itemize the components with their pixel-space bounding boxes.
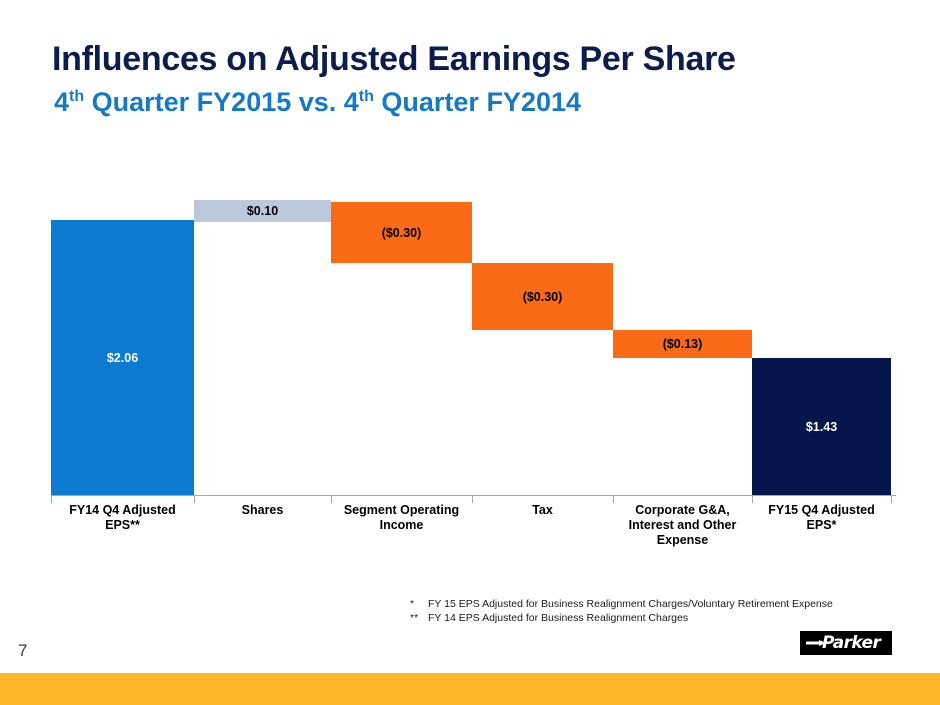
category-label: Segment OperatingIncome bbox=[331, 503, 472, 533]
category-label-line: EPS* bbox=[752, 518, 891, 533]
category-label-line: Shares bbox=[194, 503, 331, 518]
bar-value-label: $0.10 bbox=[247, 204, 278, 218]
waterfall-bar: $1.43 bbox=[752, 358, 891, 496]
axis-tick bbox=[891, 496, 892, 503]
waterfall-bar: $2.06 bbox=[51, 220, 194, 496]
category-label: FY14 Q4 AdjustedEPS** bbox=[51, 503, 194, 533]
chart-axis-line bbox=[51, 495, 896, 496]
category-label-line: Corporate G&A, bbox=[613, 503, 752, 518]
footnote-marker: ** bbox=[410, 611, 428, 625]
footnotes-block: *FY 15 EPS Adjusted for Business Realign… bbox=[410, 597, 833, 625]
bar-value-label: $2.06 bbox=[107, 351, 138, 365]
category-label-line: EPS** bbox=[51, 518, 194, 533]
bottom-accent-bar bbox=[0, 673, 940, 705]
footnote-text: FY 14 EPS Adjusted for Business Realignm… bbox=[428, 612, 688, 624]
axis-tick bbox=[613, 496, 614, 503]
waterfall-bar: ($0.13) bbox=[613, 330, 752, 358]
axis-tick bbox=[472, 496, 473, 503]
category-label: Tax bbox=[472, 503, 613, 518]
page-subtitle: 4th Quarter FY2015 vs. 4th Quarter FY201… bbox=[54, 87, 581, 118]
bar-value-label: $1.43 bbox=[806, 420, 837, 434]
parker-logo: Parker bbox=[800, 631, 892, 655]
subtitle-part-2: Quarter FY2015 vs. 4 bbox=[84, 87, 359, 117]
waterfall-bar: $0.10 bbox=[194, 200, 331, 222]
footnote-row: *FY 15 EPS Adjusted for Business Realign… bbox=[410, 597, 833, 611]
waterfall-bar: ($0.30) bbox=[472, 263, 613, 330]
chart-category-labels: FY14 Q4 AdjustedEPS**SharesSegment Opera… bbox=[51, 503, 892, 563]
page-number: 7 bbox=[18, 641, 27, 661]
category-label-line: Expense bbox=[613, 533, 752, 548]
logo-wordmark: Parker bbox=[822, 633, 880, 653]
waterfall-bar: ($0.30) bbox=[331, 202, 472, 263]
category-label-line: Interest and Other bbox=[613, 518, 752, 533]
subtitle-part-3: Quarter FY2014 bbox=[374, 87, 581, 117]
footnote-row: **FY 14 EPS Adjusted for Business Realig… bbox=[410, 611, 833, 625]
axis-tick bbox=[194, 496, 195, 503]
category-label-line: Tax bbox=[472, 503, 613, 518]
footnote-marker: * bbox=[410, 597, 428, 611]
category-label-line: Income bbox=[331, 518, 472, 533]
category-label-line: Segment Operating bbox=[331, 503, 472, 518]
page-title: Influences on Adjusted Earnings Per Shar… bbox=[52, 40, 736, 79]
bar-value-label: ($0.30) bbox=[523, 290, 563, 304]
bar-value-label: ($0.13) bbox=[663, 337, 703, 351]
category-label: FY15 Q4 AdjustedEPS* bbox=[752, 503, 891, 533]
axis-tick bbox=[331, 496, 332, 503]
category-label-line: FY15 Q4 Adjusted bbox=[752, 503, 891, 518]
subtitle-part-1: 4 bbox=[54, 87, 69, 117]
category-label-line: FY14 Q4 Adjusted bbox=[51, 503, 194, 518]
footnote-text: FY 15 EPS Adjusted for Business Realignm… bbox=[428, 598, 833, 610]
waterfall-chart-plot: $2.06$0.10($0.30)($0.30)($0.13)$1.43 bbox=[51, 190, 892, 496]
axis-tick bbox=[752, 496, 753, 503]
category-label: Shares bbox=[194, 503, 331, 518]
bar-value-label: ($0.30) bbox=[382, 226, 422, 240]
axis-tick bbox=[51, 496, 52, 503]
subtitle-superscript-1: th bbox=[69, 88, 84, 105]
category-label: Corporate G&A,Interest and OtherExpense bbox=[613, 503, 752, 548]
subtitle-superscript-2: th bbox=[359, 88, 374, 105]
